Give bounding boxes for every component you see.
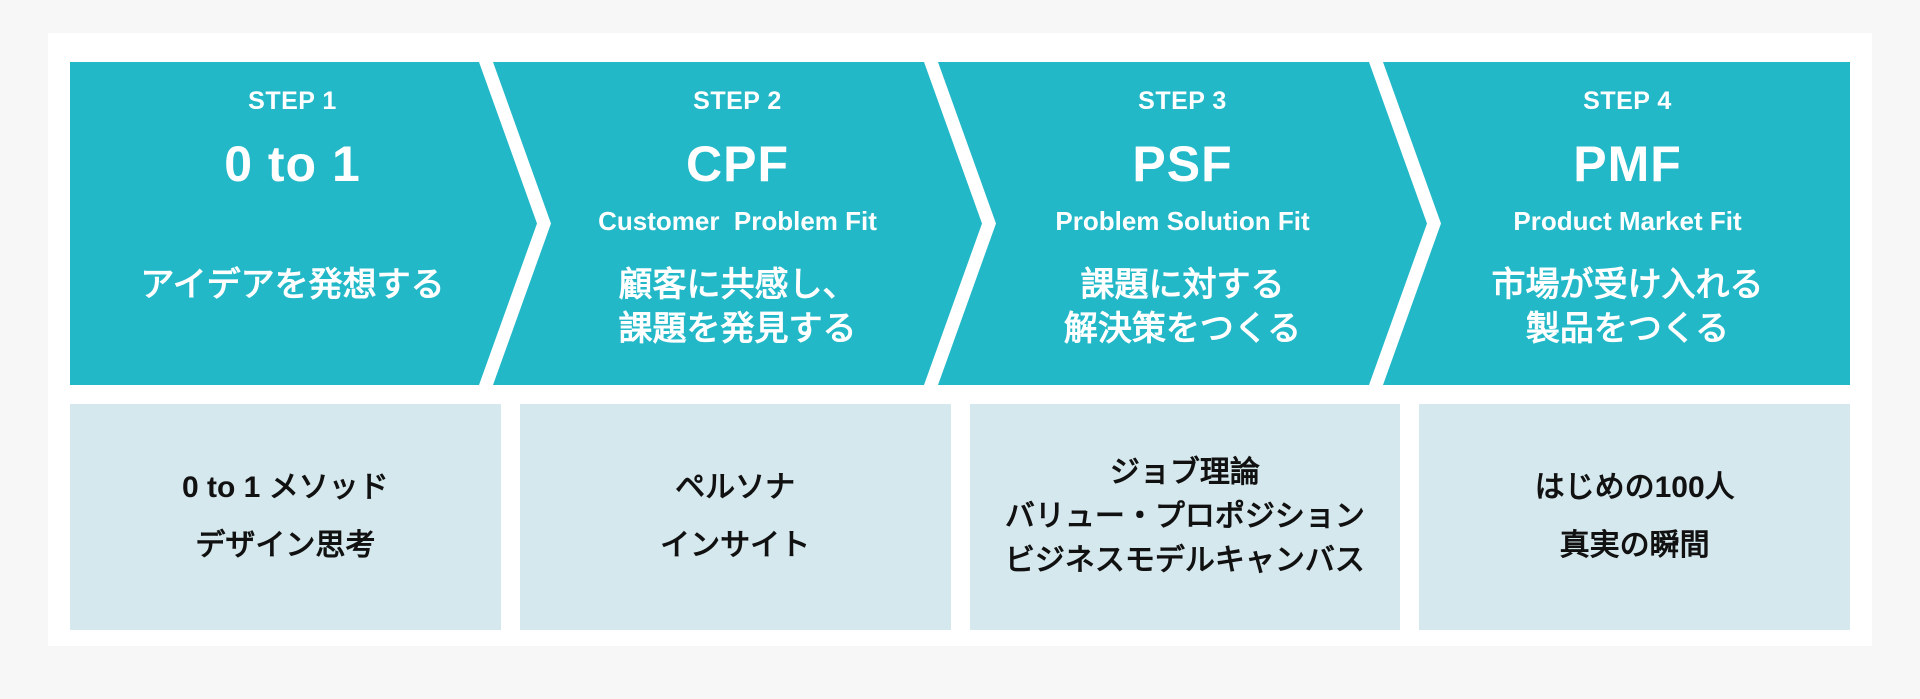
keyword-text: はじめの100人 <box>1535 473 1735 503</box>
keyword-text: ジョブ理論 <box>1110 458 1260 488</box>
keyword-card-1[interactable]: 0 to 1 メソッド デザイン思考 <box>70 404 501 630</box>
step-full-name: Product Market Fit <box>1513 208 1741 234</box>
flow-step-1[interactable]: STEP 1 0 to 1 アイデアを発想する <box>70 62 515 385</box>
step-abbreviation: PMF <box>1573 139 1682 189</box>
step-number-label: STEP 3 <box>1138 89 1227 114</box>
flow-step-3[interactable]: STEP 3 PSF Problem Solution Fit 課題に対する 解… <box>960 62 1405 385</box>
keyword-text: デザイン思考 <box>195 531 375 561</box>
step-number-label: STEP 1 <box>248 89 337 114</box>
keyword-text: ビジネスモデルキャンバス <box>1005 546 1365 576</box>
keyword-text: ペルソナ <box>675 473 795 503</box>
diagram-panel: STEP 1 0 to 1 アイデアを発想する STEP 2 CPF Custo… <box>48 33 1872 646</box>
keyword-cards-row: 0 to 1 メソッド デザイン思考 ペルソナ インサイト ジョブ理論 バリュー… <box>70 404 1850 630</box>
keyword-card-2[interactable]: ペルソナ インサイト <box>520 404 951 630</box>
step-number-label: STEP 4 <box>1583 89 1672 114</box>
keyword-card-3[interactable]: ジョブ理論 バリュー・プロポジション ビジネスモデルキャンバス <box>970 404 1401 630</box>
step-description: 顧客に共感し、 課題を発見する <box>619 264 857 351</box>
step-abbreviation: CPF <box>686 139 789 189</box>
step-number-label: STEP 2 <box>693 89 782 114</box>
step-abbreviation: PSF <box>1132 139 1232 189</box>
step-abbreviation: 0 to 1 <box>224 139 361 189</box>
step-description: 市場が受け入れる 製品をつくる <box>1492 264 1764 351</box>
keyword-text: 0 to 1 メソッド <box>182 473 389 503</box>
keyword-card-4[interactable]: はじめの100人 真実の瞬間 <box>1419 404 1850 630</box>
step-description: アイデアを発想する <box>140 264 444 308</box>
keyword-text: 真実の瞬間 <box>1560 531 1710 561</box>
keyword-text: バリュー・プロポジション <box>1005 502 1365 532</box>
step-full-name: Problem Solution Fit <box>1055 208 1309 234</box>
step-full-name: Customer Problem Fit <box>598 208 877 234</box>
flow-step-4[interactable]: STEP 4 PMF Product Market Fit 市場が受け入れる 製… <box>1405 62 1850 385</box>
step-flow-band: STEP 1 0 to 1 アイデアを発想する STEP 2 CPF Custo… <box>70 62 1850 385</box>
step-description: 課題に対する 解決策をつくる <box>1064 264 1301 351</box>
flow-step-2[interactable]: STEP 2 CPF Customer Problem Fit 顧客に共感し、 … <box>515 62 960 385</box>
keyword-text: インサイト <box>660 531 810 561</box>
